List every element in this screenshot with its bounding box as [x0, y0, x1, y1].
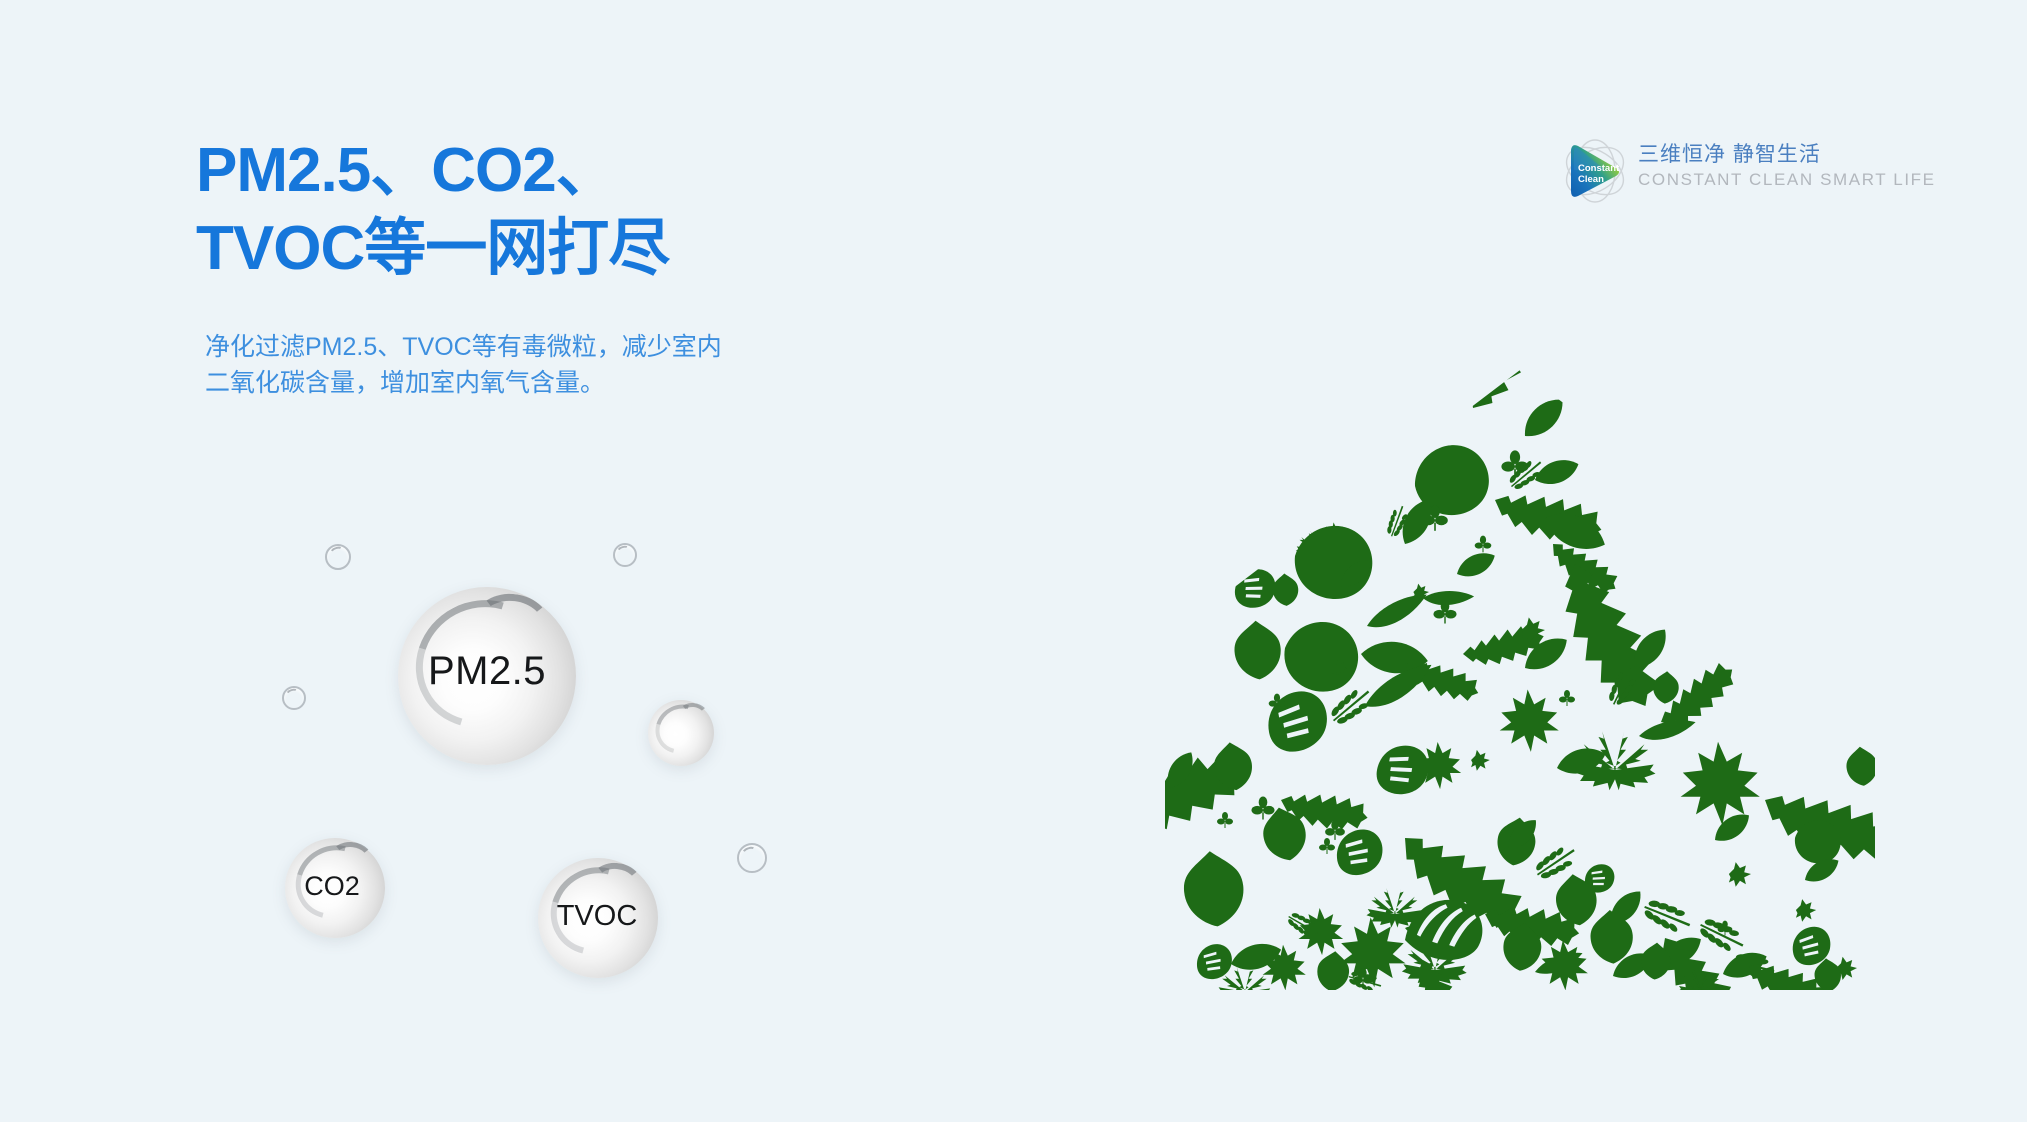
bubble-ring-small: [737, 843, 767, 873]
logo-mark-text-1: Constant: [1578, 163, 1620, 174]
subtitle-line-1: 净化过滤PM2.5、TVOC等有毒微粒，减少室内: [205, 330, 845, 366]
bubble-co2: CO2: [285, 838, 385, 938]
bubble-label-co2: CO2: [279, 871, 385, 902]
brand-logo: Constant Clean 三维恒净 静智生活 CONSTANT CLEAN …: [1558, 134, 1938, 214]
headline-line-2: TVOC等一网打尽: [196, 218, 1016, 280]
bubble-label-tvoc: TVOC: [536, 900, 658, 933]
page-subtitle: 净化过滤PM2.5、TVOC等有毒微粒，减少室内 二氧化碳含量，增加室内氧气含量…: [205, 330, 845, 401]
brand-tagline: 三维恒净 静智生活 CONSTANT CLEAN SMART LIFE: [1638, 142, 1938, 191]
house-of-leaves-illustration: [1105, 368, 1935, 993]
logo-mark-icon: Constant Clean: [1558, 134, 1632, 208]
poster-canvas: PM2.5、CO2、 TVOC等一网打尽 净化过滤PM2.5、TVOC等有毒微粒…: [0, 0, 2027, 1122]
brand-tagline-cn: 三维恒净 静智生活: [1638, 142, 1938, 168]
bubble-decorative: [648, 700, 714, 766]
bubble-pm25: PM2.5: [398, 587, 576, 765]
page-title: PM2.5、CO2、 TVOC等一网打尽: [196, 140, 1016, 280]
logo-mark-text-2: Clean: [1578, 174, 1604, 185]
brand-tagline-en: CONSTANT CLEAN SMART LIFE: [1638, 169, 1938, 191]
headline-line-1: PM2.5、CO2、: [196, 140, 1016, 202]
leaf-cluster: [1105, 368, 1905, 993]
bubble-label-pm25: PM2.5: [398, 649, 576, 694]
bubble-ring-small: [325, 544, 351, 570]
bubble-ring-small: [613, 543, 637, 567]
subtitle-line-2: 二氧化碳含量，增加室内氧气含量。: [205, 366, 845, 402]
bubble-tvoc: TVOC: [538, 858, 658, 978]
bubble-ring-small: [282, 686, 306, 710]
